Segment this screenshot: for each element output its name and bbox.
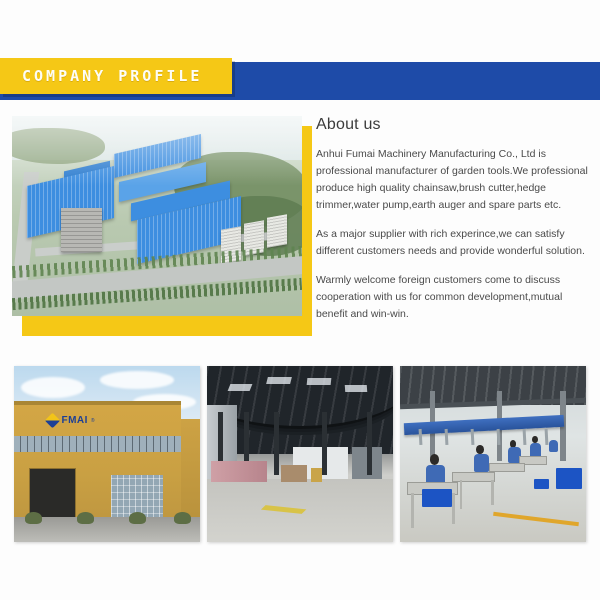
support-column-4 xyxy=(322,412,327,475)
worker-head-1 xyxy=(430,454,439,465)
about-section: About us Anhui Fumai Machinery Manufactu… xyxy=(0,108,600,338)
workbench-3 xyxy=(489,463,524,472)
worker-head-2 xyxy=(476,445,483,454)
section-title: COMPANY PROFILE xyxy=(22,67,202,85)
hanging-tool-4 xyxy=(496,429,500,445)
company-profile-page: COMPANY PROFILE xyxy=(0,0,600,600)
bench-leg-1 xyxy=(411,493,414,528)
diamond-logo-icon xyxy=(45,413,61,429)
blue-parts-crate-1 xyxy=(422,489,452,507)
about-paragraph-1: Anhui Fumai Machinery Manufacturing Co.,… xyxy=(316,146,592,214)
hero-image-frame xyxy=(12,116,302,326)
gallery-strip: FMAI ® xyxy=(0,366,600,546)
bench-leg-3 xyxy=(460,480,463,508)
factory-aerial-photo xyxy=(12,116,302,316)
workbench-2 xyxy=(452,472,495,483)
hanging-tool-1 xyxy=(418,429,422,445)
gallery-image-assembly-line xyxy=(400,366,586,542)
support-column-3 xyxy=(274,412,279,475)
company-logo: FMAI ® xyxy=(47,415,94,426)
about-paragraph-3: Warmly welcome foreign customers come to… xyxy=(316,272,592,323)
about-text-block: About us Anhui Fumai Machinery Manufactu… xyxy=(316,116,592,323)
banner-yellow-tab: COMPANY PROFILE xyxy=(0,58,232,94)
hanging-tool-5 xyxy=(522,429,526,445)
shrub-1 xyxy=(25,512,42,524)
clerestory-window-band xyxy=(14,436,181,452)
machinery-row xyxy=(211,461,267,482)
about-heading: About us xyxy=(316,116,592,134)
bench-leg-4 xyxy=(491,480,494,505)
shrub-2 xyxy=(77,512,94,524)
gallery-image-office-building: FMAI ® xyxy=(14,366,200,542)
hanging-tool-3 xyxy=(470,429,474,445)
gallery-image-warehouse-interior xyxy=(207,366,393,542)
worker-5 xyxy=(549,440,558,452)
forecourt-ground xyxy=(14,517,200,542)
skylight-1 xyxy=(228,384,253,391)
worker-head-4 xyxy=(532,436,538,443)
stacked-goods-1 xyxy=(281,465,307,483)
shrub-4 xyxy=(174,512,191,524)
hanging-tool-2 xyxy=(444,429,448,445)
section-header-banner: COMPANY PROFILE xyxy=(0,58,600,102)
shrub-3 xyxy=(129,512,146,524)
blue-parts-crate-2 xyxy=(556,468,582,489)
stacked-goods-2 xyxy=(311,468,322,482)
logo-wordmark: FMAI xyxy=(61,415,87,426)
cloud-1 xyxy=(21,377,84,398)
atmospheric-haze xyxy=(12,116,302,316)
about-paragraph-2: As a major supplier with rich experince,… xyxy=(316,226,592,260)
bench-leg-2 xyxy=(452,493,455,525)
skylight-3 xyxy=(307,378,332,385)
cloud-2 xyxy=(100,371,174,389)
skylight-2 xyxy=(266,377,292,384)
support-column-5 xyxy=(367,412,372,475)
blue-parts-crate-3 xyxy=(534,479,549,490)
worker-2 xyxy=(474,454,489,472)
skylight-4 xyxy=(344,385,367,392)
trademark-icon: ® xyxy=(91,418,95,424)
